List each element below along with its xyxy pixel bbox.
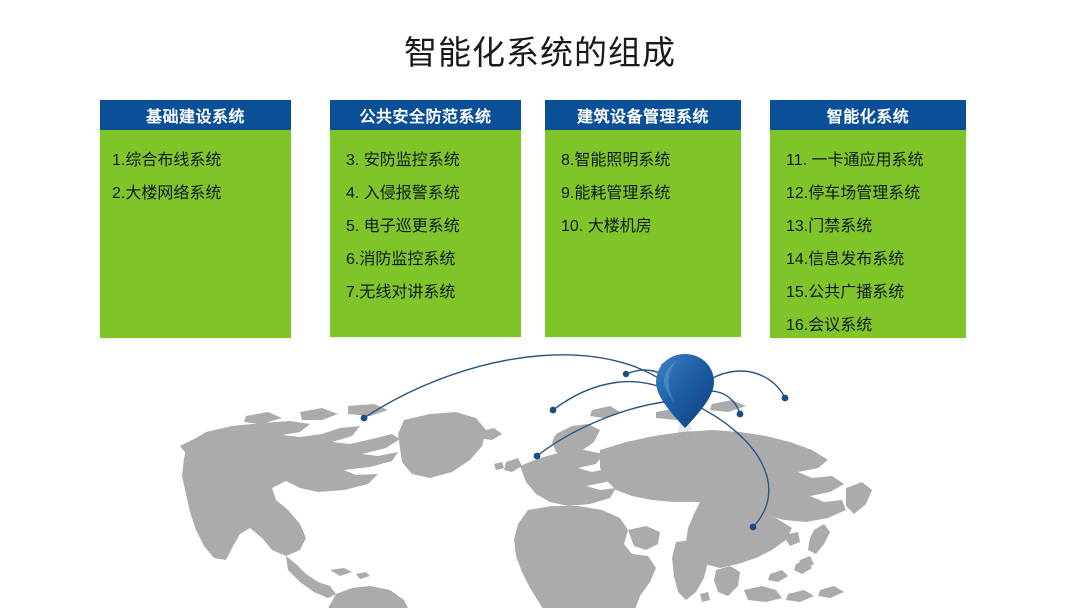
list-item: 9.能耗管理系统 bbox=[545, 177, 741, 210]
category-card-intelligent-system[interactable]: 智能化系统 11. 一卡通应用系统 12.停车场管理系统 13.门禁系统 14.… bbox=[770, 100, 966, 338]
list-item: 8.智能照明系统 bbox=[545, 144, 741, 177]
category-items-infrastructure: 1.综合布线系统 2.大楼网络系统 bbox=[100, 130, 291, 210]
list-item: 4. 入侵报警系统 bbox=[330, 177, 521, 210]
category-items-building-equipment: 8.智能照明系统 9.能耗管理系统 10. 大楼机房 bbox=[545, 130, 741, 243]
list-item: 3. 安防监控系统 bbox=[330, 144, 521, 177]
category-items-public-security: 3. 安防监控系统 4. 入侵报警系统 5. 电子巡更系统 6.消防监控系统 7… bbox=[330, 130, 521, 309]
node-dot bbox=[782, 395, 789, 402]
list-item: 7.无线对讲系统 bbox=[330, 276, 521, 309]
list-item: 15.公共广播系统 bbox=[770, 276, 966, 309]
list-item: 13.门禁系统 bbox=[770, 210, 966, 243]
list-item: 10. 大楼机房 bbox=[545, 210, 741, 243]
category-header-infrastructure: 基础建设系统 bbox=[100, 100, 291, 130]
category-header-public-security: 公共安全防范系统 bbox=[330, 100, 521, 130]
category-card-building-equipment[interactable]: 建筑设备管理系统 8.智能照明系统 9.能耗管理系统 10. 大楼机房 bbox=[545, 100, 741, 337]
node-dot bbox=[623, 371, 629, 377]
world-map-region bbox=[0, 338, 1080, 608]
category-items-intelligent-system: 11. 一卡通应用系统 12.停车场管理系统 13.门禁系统 14.信息发布系统… bbox=[770, 130, 966, 342]
node-dot bbox=[534, 453, 541, 460]
list-item: 12.停车场管理系统 bbox=[770, 177, 966, 210]
node-dot bbox=[550, 407, 557, 414]
category-card-public-security[interactable]: 公共安全防范系统 3. 安防监控系统 4. 入侵报警系统 5. 电子巡更系统 6… bbox=[330, 100, 521, 337]
category-card-infrastructure[interactable]: 基础建设系统 1.综合布线系统 2.大楼网络系统 bbox=[100, 100, 291, 338]
list-item: 14.信息发布系统 bbox=[770, 243, 966, 276]
list-item: 2.大楼网络系统 bbox=[100, 177, 291, 210]
list-item: 11. 一卡通应用系统 bbox=[770, 144, 966, 177]
node-dot bbox=[750, 524, 757, 531]
page-title: 智能化系统的组成 bbox=[0, 32, 1080, 74]
map-landmasses bbox=[180, 400, 934, 608]
node-dot bbox=[361, 415, 368, 422]
list-item: 6.消防监控系统 bbox=[330, 243, 521, 276]
list-item: 5. 电子巡更系统 bbox=[330, 210, 521, 243]
list-item: 1.综合布线系统 bbox=[100, 144, 291, 177]
category-header-building-equipment: 建筑设备管理系统 bbox=[545, 100, 741, 130]
slide-canvas: 智能化系统的组成 基础建设系统 1.综合布线系统 2.大楼网络系统 公共安全防范… bbox=[0, 0, 1080, 608]
category-header-intelligent-system: 智能化系统 bbox=[770, 100, 966, 130]
node-dot bbox=[737, 411, 744, 418]
